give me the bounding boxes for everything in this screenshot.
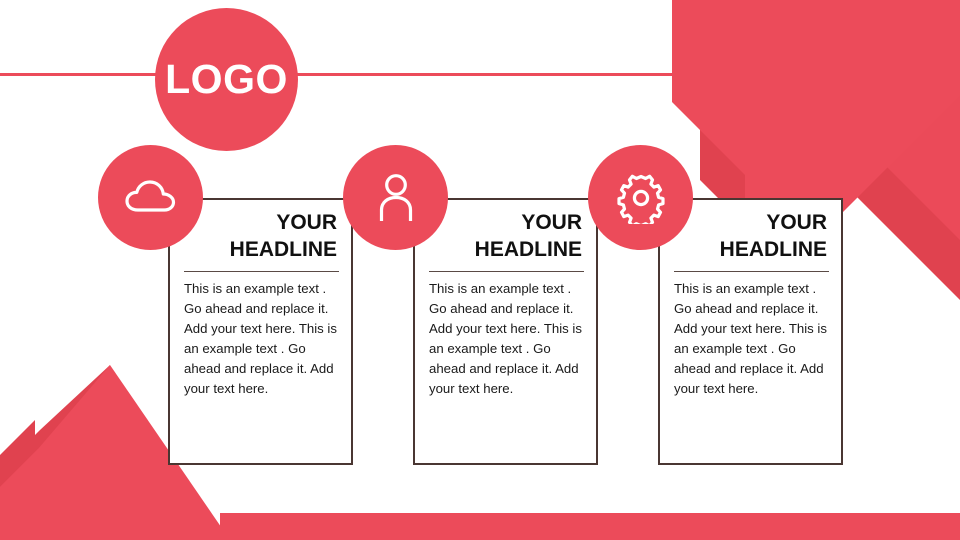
bottom-accent-bar: [220, 513, 960, 540]
card-divider: [429, 271, 584, 272]
gear-icon-glyph: [615, 172, 667, 224]
cards-container: YOUR HEADLINE This is an example text . …: [0, 0, 960, 540]
card-box: YOUR HEADLINE This is an example text . …: [413, 198, 598, 465]
card-box: YOUR HEADLINE This is an example text . …: [658, 198, 843, 465]
card-body: This is an example text . Go ahead and r…: [429, 279, 584, 399]
card-divider: [184, 271, 339, 272]
card-body: This is an example text . Go ahead and r…: [184, 279, 339, 399]
card-headline: YOUR HEADLINE: [184, 210, 339, 264]
gear-icon[interactable]: [588, 145, 693, 250]
person-icon-glyph: [374, 172, 418, 224]
person-icon[interactable]: [343, 145, 448, 250]
cloud-icon-glyph: [124, 178, 178, 218]
card-headline: YOUR HEADLINE: [674, 210, 829, 264]
card-box: YOUR HEADLINE This is an example text . …: [168, 198, 353, 465]
cloud-icon[interactable]: [98, 145, 203, 250]
card-divider: [674, 271, 829, 272]
slide-canvas: LOGO YOUR HEADLINE This is an example te…: [0, 0, 960, 540]
card-headline: YOUR HEADLINE: [429, 210, 584, 264]
card-body: This is an example text . Go ahead and r…: [674, 279, 829, 399]
feature-card-3[interactable]: YOUR HEADLINE This is an example text . …: [588, 145, 878, 470]
